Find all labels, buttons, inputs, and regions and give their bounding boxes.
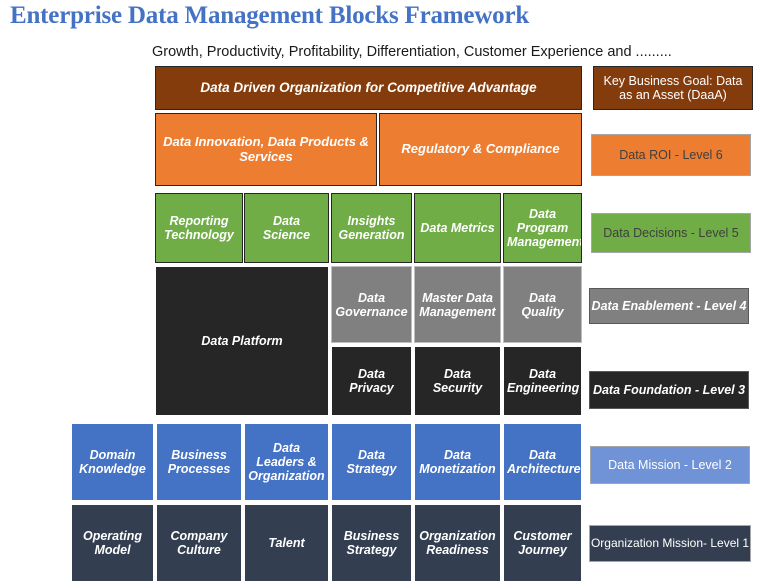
block-data-engineering[interactable]: Data Engineering	[503, 346, 582, 416]
page-subtitle: Growth, Productivity, Profitability, Dif…	[152, 44, 672, 60]
block-label: Organization Readiness	[418, 529, 497, 557]
level-label-text: Data Mission - Level 2	[608, 458, 732, 472]
block-label: Domain Knowledge	[75, 448, 150, 476]
block-label: Regulatory & Compliance	[383, 142, 578, 157]
level-label-data-mission-level-2[interactable]: Data Mission - Level 2	[590, 446, 750, 484]
block-label: Data Security	[418, 367, 497, 395]
level-label-organization-mission-level-1[interactable]: Organization Mission- Level 1	[589, 525, 751, 562]
block-label: Data Engineering	[507, 367, 578, 395]
block-operating-model[interactable]: Operating Model	[71, 504, 154, 582]
block-label: Data Governance	[335, 291, 408, 319]
block-company-culture[interactable]: Company Culture	[156, 504, 242, 582]
block-data-security[interactable]: Data Security	[414, 346, 501, 416]
block-label: Insights Generation	[335, 214, 408, 242]
block-data-governance[interactable]: Data Governance	[331, 266, 412, 343]
level-label-text: Data Decisions - Level 5	[603, 226, 738, 240]
page-title: Enterprise Data Management Blocks Framew…	[10, 2, 529, 30]
block-data-architecture[interactable]: Data Architecture	[503, 423, 582, 501]
block-label: Data Privacy	[335, 367, 408, 395]
block-label: Operating Model	[75, 529, 150, 557]
level-label-data-enablement-level-4[interactable]: Data Enablement - Level 4	[589, 288, 749, 324]
block-label: Data Quality	[507, 291, 578, 319]
block-label: Master Data Management	[418, 291, 497, 319]
block-data-platform[interactable]: Data Platform	[155, 266, 329, 416]
block-customer-journey[interactable]: Customer Journey	[503, 504, 582, 582]
block-regulatory-compliance[interactable]: Regulatory & Compliance	[379, 113, 582, 186]
block-label: Customer Journey	[507, 529, 578, 557]
block-data-monetization[interactable]: Data Monetization	[414, 423, 501, 501]
block-master-data-management[interactable]: Master Data Management	[414, 266, 501, 343]
block-reporting-technology[interactable]: Reporting Technology	[155, 193, 243, 263]
block-data-quality[interactable]: Data Quality	[503, 266, 582, 343]
block-label: Company Culture	[160, 529, 238, 557]
level-label-data-foundation-level-3[interactable]: Data Foundation - Level 3	[589, 371, 749, 409]
level-label-text: Key Business Goal: Data as an Asset (Daa…	[598, 74, 748, 103]
banner-data-driven-organization[interactable]: Data Driven Organization for Competitive…	[155, 66, 582, 110]
block-business-strategy[interactable]: Business Strategy	[331, 504, 412, 582]
block-data-program-management[interactable]: Data Program Management	[503, 193, 582, 263]
block-data-privacy[interactable]: Data Privacy	[331, 346, 412, 416]
block-label: Data Leaders & Organization	[248, 441, 325, 483]
block-label: Data Strategy	[335, 448, 408, 476]
block-label: Data Science	[248, 214, 325, 242]
block-label: Data Program Management	[507, 207, 578, 249]
block-data-metrics[interactable]: Data Metrics	[414, 193, 501, 263]
block-label: Data Monetization	[418, 448, 497, 476]
framework-diagram: Enterprise Data Management Blocks Framew…	[0, 0, 768, 586]
block-data-science[interactable]: Data Science	[244, 193, 329, 263]
block-label: Data Innovation, Data Products & Service…	[159, 135, 373, 164]
level-label-text: Data Enablement - Level 4	[592, 299, 747, 313]
level-label-data-roi-level-6[interactable]: Data ROI - Level 6	[591, 134, 751, 176]
level-label-key-business-goal[interactable]: Key Business Goal: Data as an Asset (Daa…	[593, 66, 753, 110]
block-organization-readiness[interactable]: Organization Readiness	[414, 504, 501, 582]
block-label: Data Architecture	[507, 448, 578, 476]
block-data-leaders-organization[interactable]: Data Leaders & Organization	[244, 423, 329, 501]
block-talent[interactable]: Talent	[244, 504, 329, 582]
block-label: Reporting Technology	[159, 214, 239, 242]
block-insights-generation[interactable]: Insights Generation	[331, 193, 412, 263]
block-data-strategy[interactable]: Data Strategy	[331, 423, 412, 501]
level-label-data-decisions-level-5[interactable]: Data Decisions - Level 5	[591, 213, 751, 253]
block-label: Data Metrics	[418, 221, 497, 235]
level-label-text: Data Foundation - Level 3	[593, 383, 745, 397]
block-business-processes[interactable]: Business Processes	[156, 423, 242, 501]
block-domain-knowledge[interactable]: Domain Knowledge	[71, 423, 154, 501]
banner-label: Data Driven Organization for Competitive…	[159, 80, 578, 95]
block-label: Business Processes	[160, 448, 238, 476]
level-label-text: Organization Mission- Level 1	[591, 537, 749, 551]
block-label: Data Platform	[159, 334, 325, 348]
level-label-text: Data ROI - Level 6	[619, 148, 723, 162]
block-label: Talent	[248, 536, 325, 550]
block-data-innovation-products-services[interactable]: Data Innovation, Data Products & Service…	[155, 113, 377, 186]
block-label: Business Strategy	[335, 529, 408, 557]
